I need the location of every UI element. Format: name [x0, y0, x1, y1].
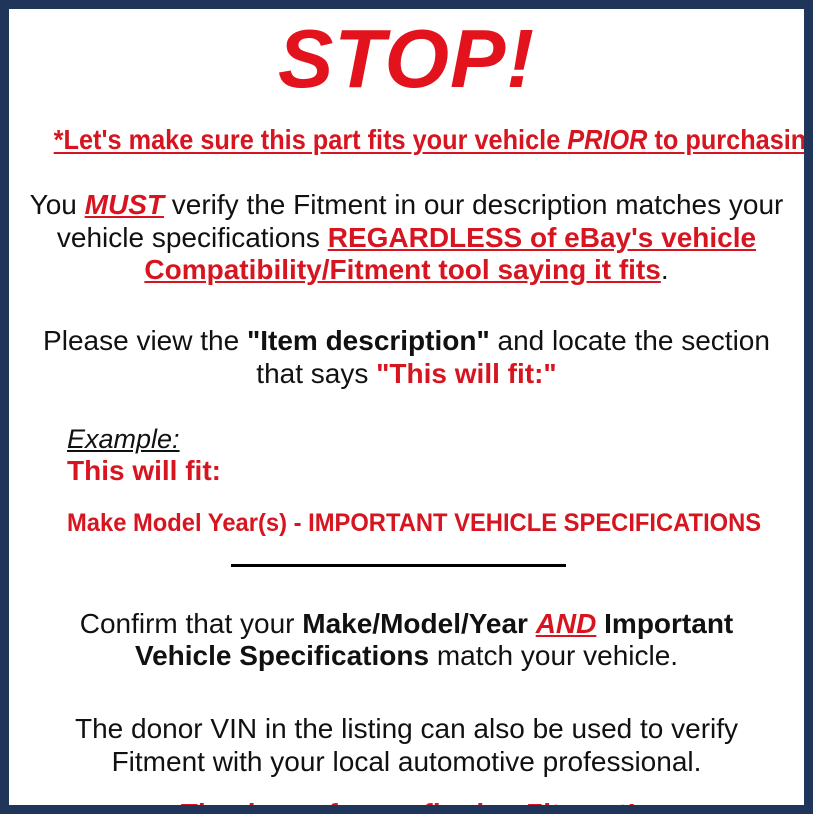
must-verify-paragraph: You MUST verify the Fitment in our descr… [23, 189, 790, 287]
view-description-paragraph: Please view the "Item description" and l… [23, 325, 790, 391]
confirm-emphasis-make-model-year: Make/Model/Year [302, 608, 528, 639]
tagline-emphasis-prior: PRIOR [567, 124, 647, 155]
example-label-row: Example: [67, 425, 790, 455]
tagline-part2: to purchasing* [647, 124, 813, 155]
tagline-part1: *Let's make sure this part fits your veh… [54, 124, 568, 155]
confirm-seg4: match your vehicle. [429, 640, 678, 671]
example-label: Example: [67, 425, 180, 455]
fitment-notice-card: STOP! *Let's make sure this part fits yo… [0, 0, 813, 814]
view-emphasis-item-description: "Item description" [247, 325, 490, 356]
confirm-seg1: Confirm that your [80, 608, 303, 639]
must-seg3: . [661, 254, 669, 285]
donor-vin-paragraph: The donor VIN in the listing can also be… [23, 713, 790, 779]
confirm-seg2 [528, 608, 536, 639]
tagline: *Let's make sure this part fits your veh… [54, 124, 760, 156]
confirm-seg3 [596, 608, 604, 639]
confirm-emphasis-and: AND [536, 608, 597, 639]
must-seg1: You [30, 189, 85, 220]
stop-heading: STOP! [23, 9, 790, 102]
divider-row [23, 564, 790, 578]
thank-you-line: Thank you for confirming Fitment! [23, 798, 790, 814]
view-seg1: Please view the [43, 325, 247, 356]
view-emphasis-this-will-fit: "This will fit:" [376, 358, 557, 389]
example-spec-line: Make Model Year(s) - IMPORTANT VEHICLE S… [67, 510, 754, 538]
must-emphasis-must: MUST [85, 189, 164, 220]
example-fit-line: This will fit: [67, 456, 790, 487]
example-block: Example: This will fit: Make Model Year(… [23, 425, 790, 538]
confirm-paragraph: Confirm that your Make/Model/Year AND Im… [23, 608, 790, 674]
notice-inner-panel: STOP! *Let's make sure this part fits yo… [9, 9, 804, 805]
horizontal-divider [231, 564, 566, 567]
